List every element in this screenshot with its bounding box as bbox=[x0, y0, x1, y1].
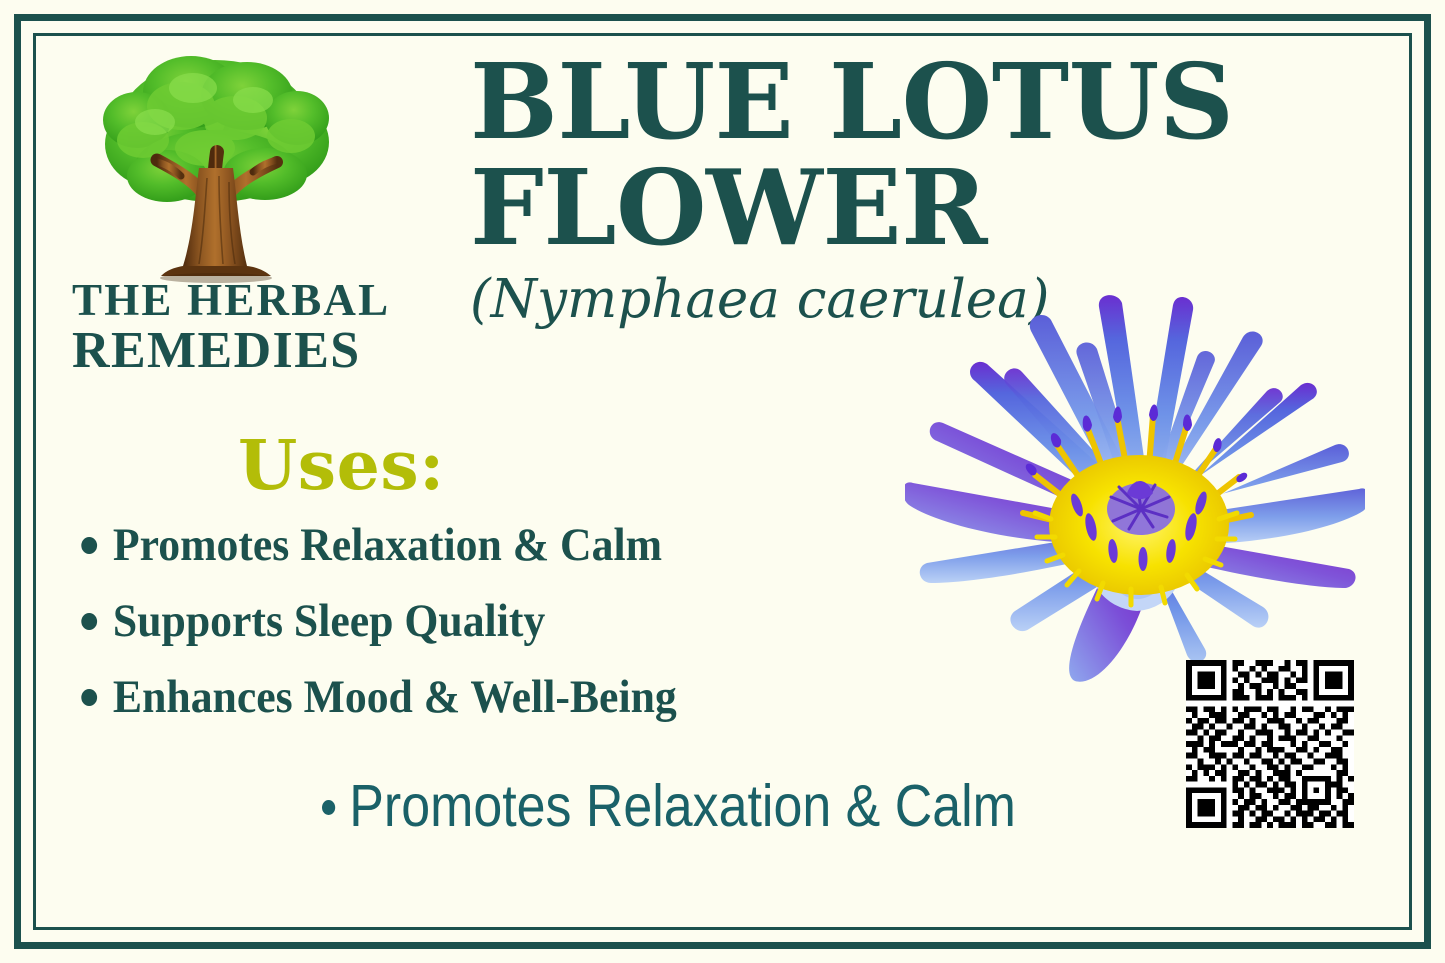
list-item: Supports Sleep Quality bbox=[72, 596, 844, 647]
bullet-icon bbox=[81, 689, 97, 706]
list-item-label: Enhances Mood & Well-Being bbox=[113, 671, 677, 723]
blue-lotus-flower-icon bbox=[905, 288, 1365, 683]
brand-line-2: REMEDIES bbox=[72, 326, 492, 377]
footer-callout-label: Promotes Relaxation & Calm bbox=[349, 773, 1016, 839]
brand-line-1: THE HERBAL bbox=[72, 278, 492, 322]
list-item: Promotes Relaxation & Calm bbox=[72, 520, 844, 571]
list-item-label: Supports Sleep Quality bbox=[113, 595, 545, 647]
product-label: THE HERBAL REMEDIES BLUE LOTUS FLOWER (N… bbox=[0, 0, 1445, 963]
page-title-line-2: FLOWER bbox=[470, 158, 1330, 258]
qr-code[interactable] bbox=[1186, 660, 1354, 828]
list-item: Enhances Mood & Well-Being bbox=[72, 672, 844, 723]
page-title-line-1: BLUE LOTUS bbox=[470, 52, 1330, 152]
uses-list: Promotes Relaxation & Calm Supports Slee… bbox=[72, 520, 902, 747]
bullet-icon bbox=[322, 800, 335, 815]
footer-callout: Promotes Relaxation & Calm bbox=[322, 777, 1016, 836]
tree-icon bbox=[95, 48, 335, 283]
brand-block: THE HERBAL REMEDIES bbox=[72, 278, 492, 377]
title-block: BLUE LOTUS FLOWER (Nymphaea caerulea) bbox=[470, 52, 1330, 327]
uses-heading: Uses: bbox=[238, 432, 445, 500]
list-item-label: Promotes Relaxation & Calm bbox=[113, 519, 662, 571]
bullet-icon bbox=[81, 613, 97, 630]
bullet-icon bbox=[81, 537, 97, 554]
